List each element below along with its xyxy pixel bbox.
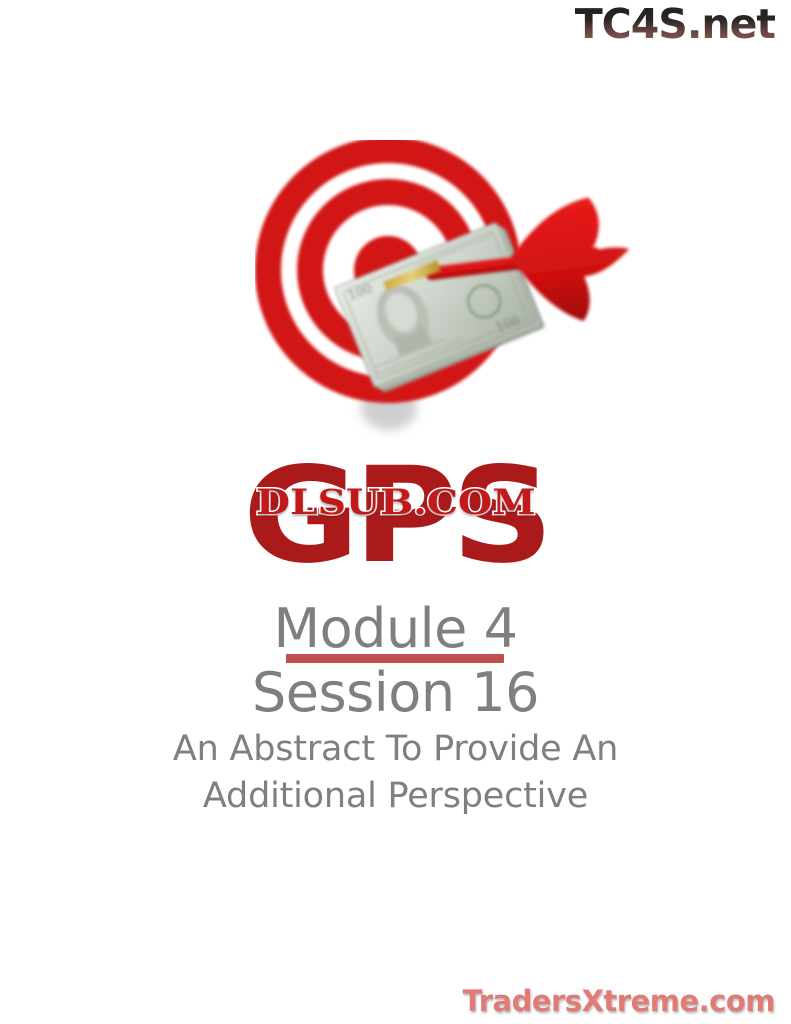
gps-logo: GPS: [0, 452, 791, 581]
dlsub-watermark-text: DLSUB.COM: [256, 485, 536, 520]
module-row: Module 4: [274, 600, 518, 664]
dlsub-watermark: DLSUB.COM: [0, 485, 791, 520]
tc4s-brand-wordmark: TC4S.net: [575, 4, 775, 45]
target-dart-money-illustration: 100 100: [255, 140, 635, 440]
session-title: Session 16: [0, 664, 791, 722]
title-block: Module 4 Session 16 An Abstract To Provi…: [0, 600, 791, 817]
subtitle-line-2: Additional Perspective: [0, 776, 791, 817]
module-title: Module 4: [274, 600, 518, 658]
tradersxtreme-brand-wordmark: TradersXtreme.com: [463, 987, 775, 1016]
subtitle-line-1: An Abstract To Provide An: [0, 729, 791, 770]
gps-logo-text: GPS: [243, 452, 548, 581]
slide-canvas: TC4S.net: [0, 0, 791, 1024]
